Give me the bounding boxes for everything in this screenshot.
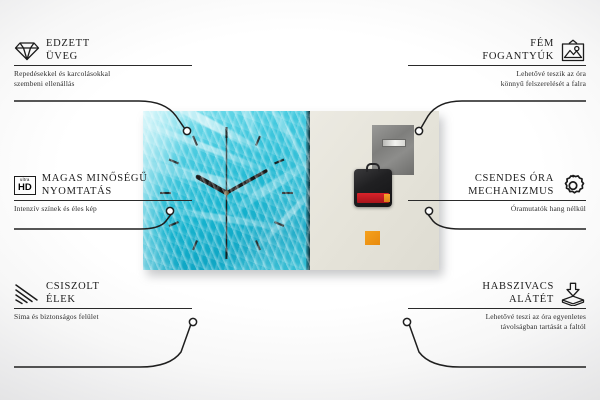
callout-quiet-mechanism: CSENDES ÓRA MECHANIZMUS Óramutatók hang …: [408, 173, 586, 214]
callout-divider: [14, 308, 192, 309]
gear-icon: [560, 174, 586, 198]
callout-divider: [14, 200, 192, 201]
callout-metal-handles: FÉM FOGANTYÚK Lehetővé teszik az óra kön…: [408, 38, 586, 88]
callout-header: EDZETT ÜVEG: [14, 38, 192, 63]
callout-tempered-glass: EDZETT ÜVEG Repedésekkel és karcolásokka…: [14, 38, 192, 88]
callout-title-line1: CSISZOLT: [46, 281, 100, 294]
callout-divider: [408, 308, 586, 309]
foam-pad: [365, 231, 380, 245]
callout-desc-line1: Óramutatók hang nélkül: [408, 204, 586, 214]
callout-title-line2: NYOMTATÁS: [42, 186, 148, 199]
callout-title-line1: FÉM: [482, 38, 554, 51]
ultra-hd-icon: ultra HD: [14, 176, 36, 196]
callout-high-quality-print: ultra HD MAGAS MINŐSÉGŰ NYOMTATÁS Intenz…: [14, 173, 192, 214]
callout-divider: [408, 200, 586, 201]
callout-desc-line1: Repedésekkel és karcolásokkal: [14, 69, 192, 79]
callout-divider: [408, 65, 586, 66]
callout-header: ultra HD MAGAS MINŐSÉGŰ NYOMTATÁS: [14, 173, 192, 198]
framed-picture-icon: [560, 39, 586, 63]
callout-header: CSISZOLT ÉLEK: [14, 281, 192, 306]
arrow-onto-pad-icon: [560, 282, 586, 306]
callout-title-line2: ÜVEG: [46, 51, 90, 64]
callout-polished-edges: CSISZOLT ÉLEK Sima és biztonságos felüle…: [14, 281, 192, 322]
callout-title-line1: EDZETT: [46, 38, 90, 51]
infographic-stage: EDZETT ÜVEG Repedésekkel és karcolásokka…: [0, 0, 600, 400]
callout-desc-line1: Lehetővé teszi az óra egyenletes: [408, 312, 586, 322]
battery: [357, 193, 389, 203]
mechanism-hanger-loop: [366, 163, 380, 172]
diagonal-lines-icon: [14, 283, 40, 305]
callout-desc-line1: Sima és biztonságos felület: [14, 312, 192, 322]
callout-desc-line1: Intenzív színek és éles kép: [14, 204, 192, 214]
clock-mechanism: [354, 169, 392, 207]
diamond-icon: [14, 40, 40, 62]
callout-desc-line1: Lehetővé teszik az óra: [408, 69, 586, 79]
callout-title-line2: ÉLEK: [46, 294, 100, 307]
callout-desc-line2: könnyű felszerelését a falra: [408, 79, 586, 89]
callout-title-line2: MECHANIZMUS: [468, 186, 554, 199]
callout-header: FÉM FOGANTYÚK: [408, 38, 586, 63]
callout-desc-line2: távolságban tartását a faltól: [408, 322, 586, 332]
callout-desc-line2: szembeni ellenállás: [14, 79, 192, 89]
callout-title-line2: FOGANTYÚK: [482, 51, 554, 64]
callout-header: CSENDES ÓRA MECHANIZMUS: [408, 173, 586, 198]
callout-title-line1: CSENDES ÓRA: [468, 173, 554, 186]
callout-title-line1: MAGAS MINŐSÉGŰ: [42, 173, 148, 186]
callout-title-line1: HABSZIVACS: [482, 281, 554, 294]
ultra-hd-icon-big-label: HD: [18, 183, 32, 193]
callout-divider: [14, 65, 192, 66]
callout-title-line2: ALÁTÉT: [482, 294, 554, 307]
callout-header: HABSZIVACS ALÁTÉT: [408, 281, 586, 306]
callout-foam-pad: HABSZIVACS ALÁTÉT Lehetővé teszi az óra …: [408, 281, 586, 331]
